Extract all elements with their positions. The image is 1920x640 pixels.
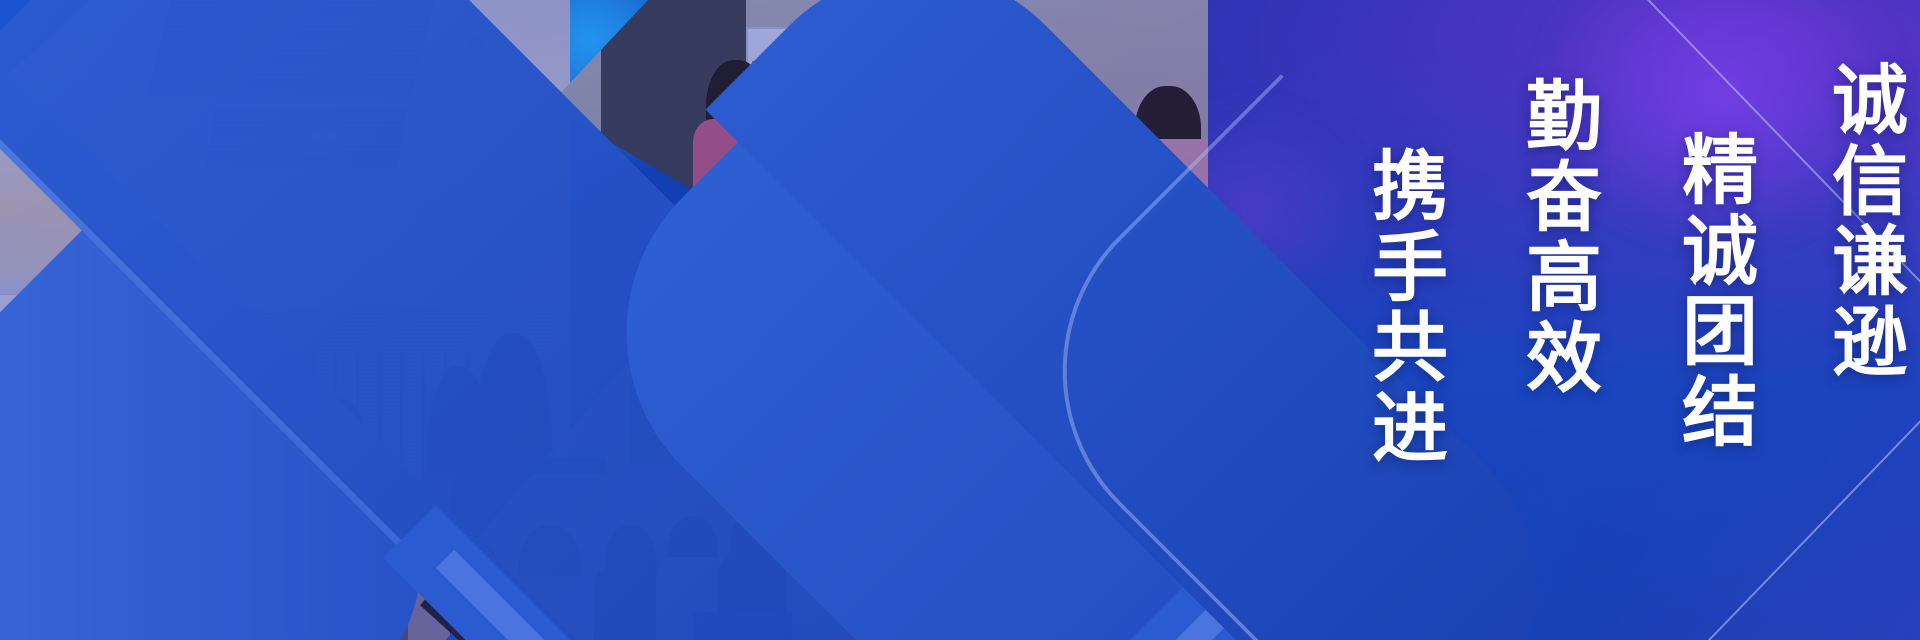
slogan-char: 诚: [1832, 62, 1908, 143]
slogan-char: 奋: [1526, 159, 1602, 240]
slogan-char: 结: [1682, 374, 1758, 455]
slogan-char: 信: [1832, 143, 1908, 224]
slogan-char: 精: [1682, 132, 1758, 213]
slogan-column-xieshougongjin: 携 手 共 进: [1372, 148, 1448, 470]
company-culture-banner: 携 手 共 进 勤 奋 高 效 精 诚 团 结 诚 信 谦 逊: [0, 0, 1920, 640]
slogan-char: 携: [1372, 148, 1448, 229]
slogan-char: 效: [1526, 320, 1602, 401]
slogan-char: 共: [1372, 309, 1448, 390]
slogan-char: 高: [1526, 239, 1602, 320]
slogan-char: 诚: [1682, 213, 1758, 294]
slogan-char: 勤: [1526, 78, 1602, 159]
slogan-column-chengxinqianxun: 诚 信 谦 逊: [1832, 62, 1908, 384]
slogan-char: 谦: [1832, 223, 1908, 304]
slogan-column-jingchengtuanjie: 精 诚 团 结: [1682, 132, 1758, 454]
slogan-char: 进: [1372, 390, 1448, 471]
slogan-block: 携 手 共 进 勤 奋 高 效 精 诚 团 结 诚 信 谦 逊: [1160, 0, 1920, 640]
slogan-column-qinfengaoxiao: 勤 奋 高 效: [1526, 78, 1602, 400]
slogan-char: 逊: [1832, 304, 1908, 385]
slogan-char: 手: [1372, 229, 1448, 310]
slogan-char: 团: [1682, 293, 1758, 374]
